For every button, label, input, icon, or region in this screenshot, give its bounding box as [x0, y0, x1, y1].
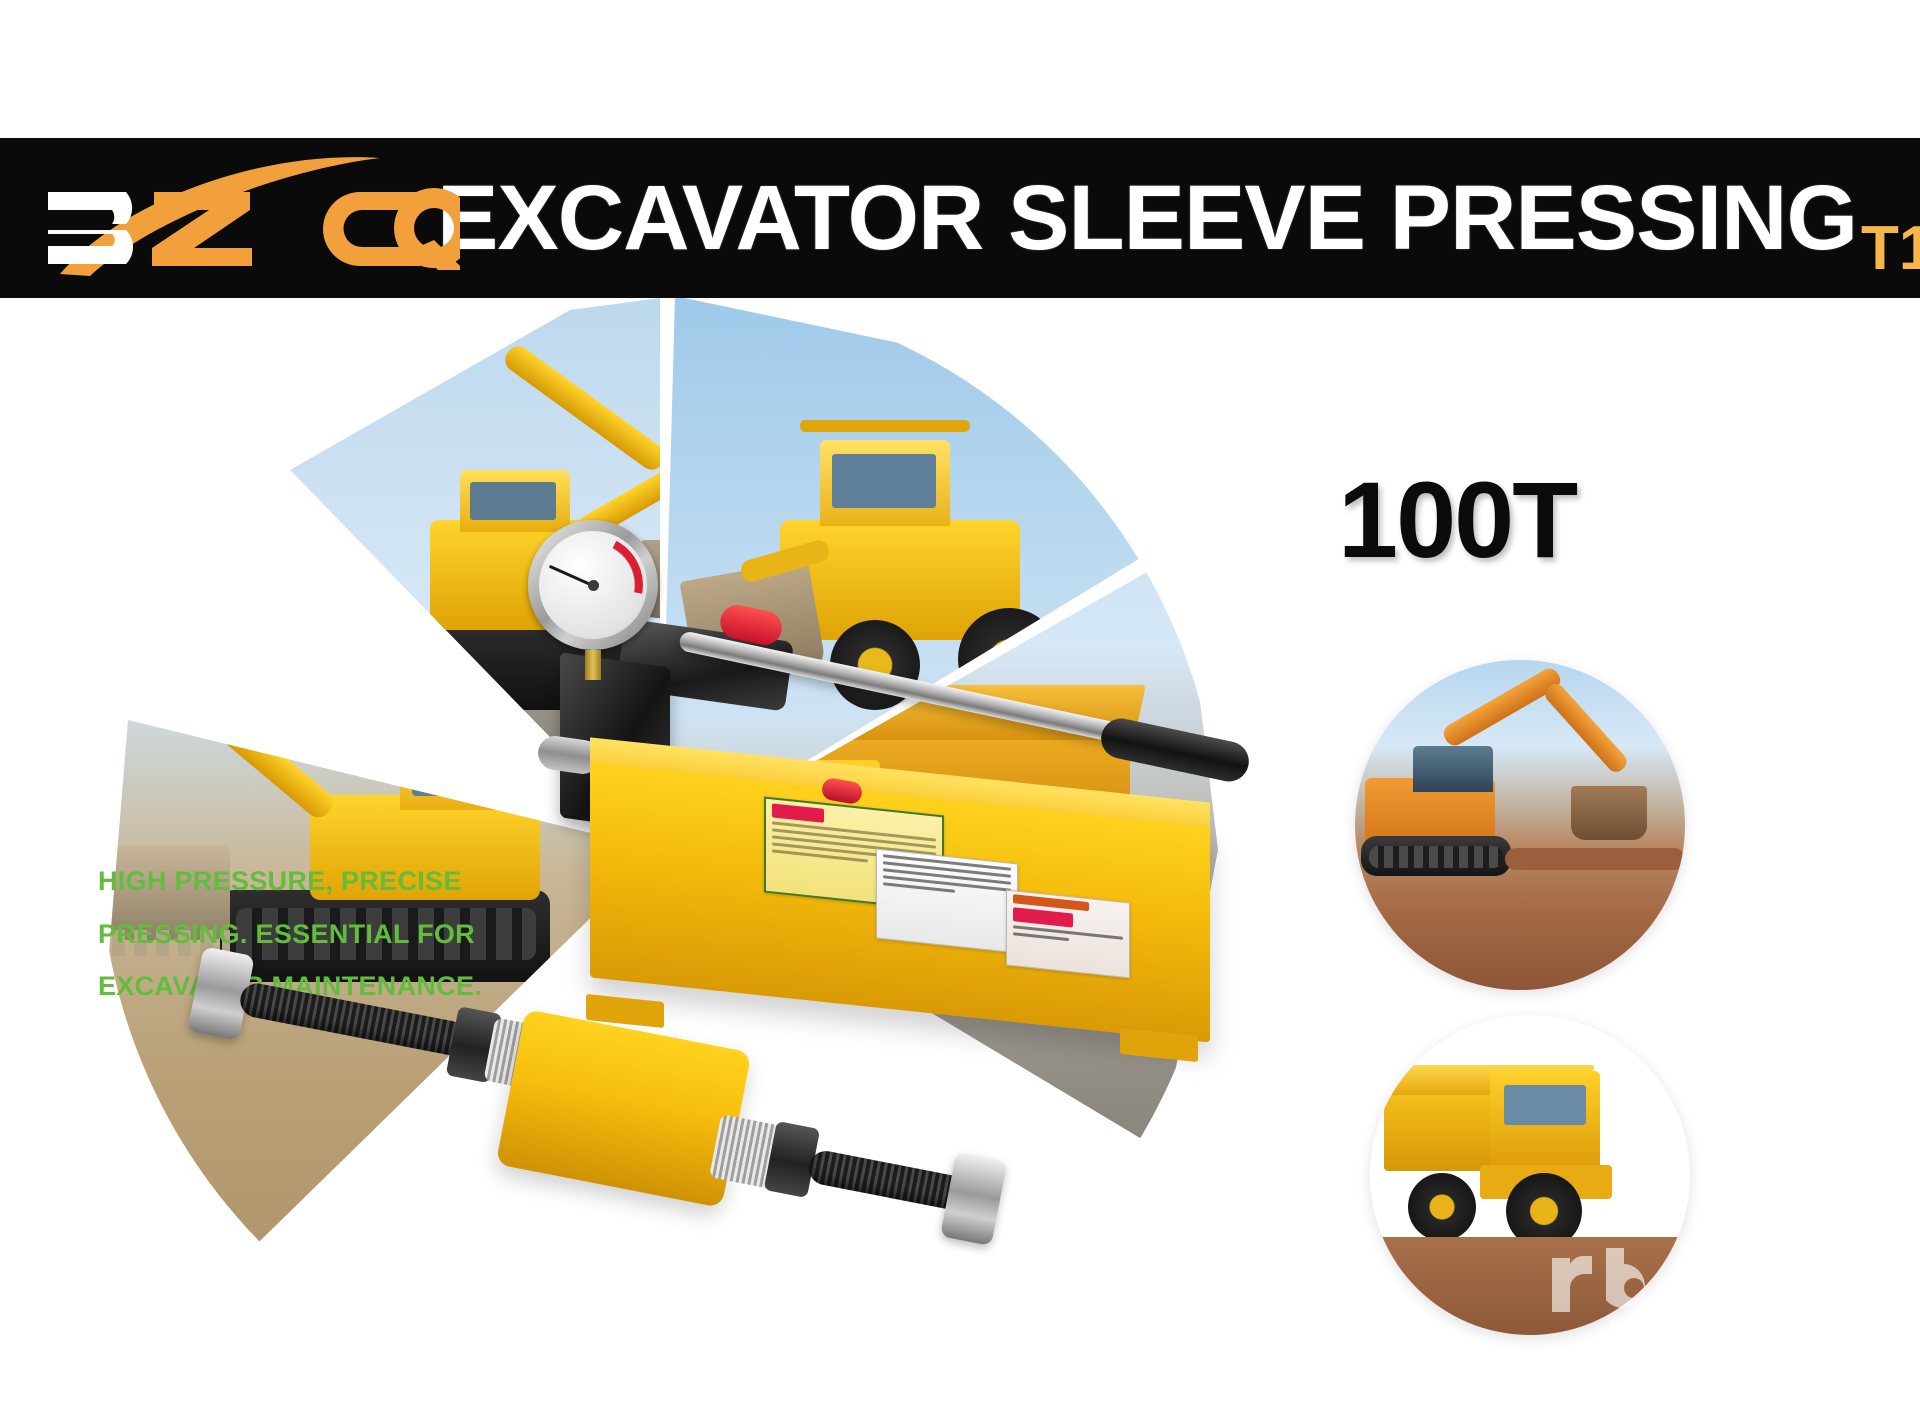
pressure-gauge [528, 520, 658, 650]
hydraulic-hand-pump [560, 620, 1320, 1180]
gauge-brass-stem [585, 650, 601, 680]
circle-photo-dump-truck [1370, 1015, 1690, 1335]
pump-label-red [1006, 889, 1130, 978]
circle-photo-excavator [1355, 660, 1685, 990]
circle-photo-dump-truck-image [1370, 1015, 1690, 1335]
logo-letters-zcq [152, 188, 460, 270]
gauge-hub [588, 580, 599, 591]
circle-photo-excavator-image [1355, 660, 1685, 990]
page-title: EXCAVATOR SLEEVE PRESSING [437, 172, 1857, 264]
header-bar: EXCAVATOR SLEEVE PRESSING T100 [0, 138, 1920, 298]
pump-foot-left [586, 994, 664, 1028]
pump-handle-grip[interactable] [1097, 715, 1252, 785]
tagline-line-2: PRESSING. ESSENTIAL FOR [98, 908, 618, 961]
model-badge: T100 [1861, 218, 1920, 280]
puller-rod-left [237, 981, 469, 1058]
pump-label-white [876, 849, 1018, 954]
tagline-line-1: HIGH PRESSURE, PRECISE [98, 855, 618, 908]
tonnage-headline: 100T [1338, 466, 1576, 574]
brand-logo[interactable] [0, 138, 455, 298]
